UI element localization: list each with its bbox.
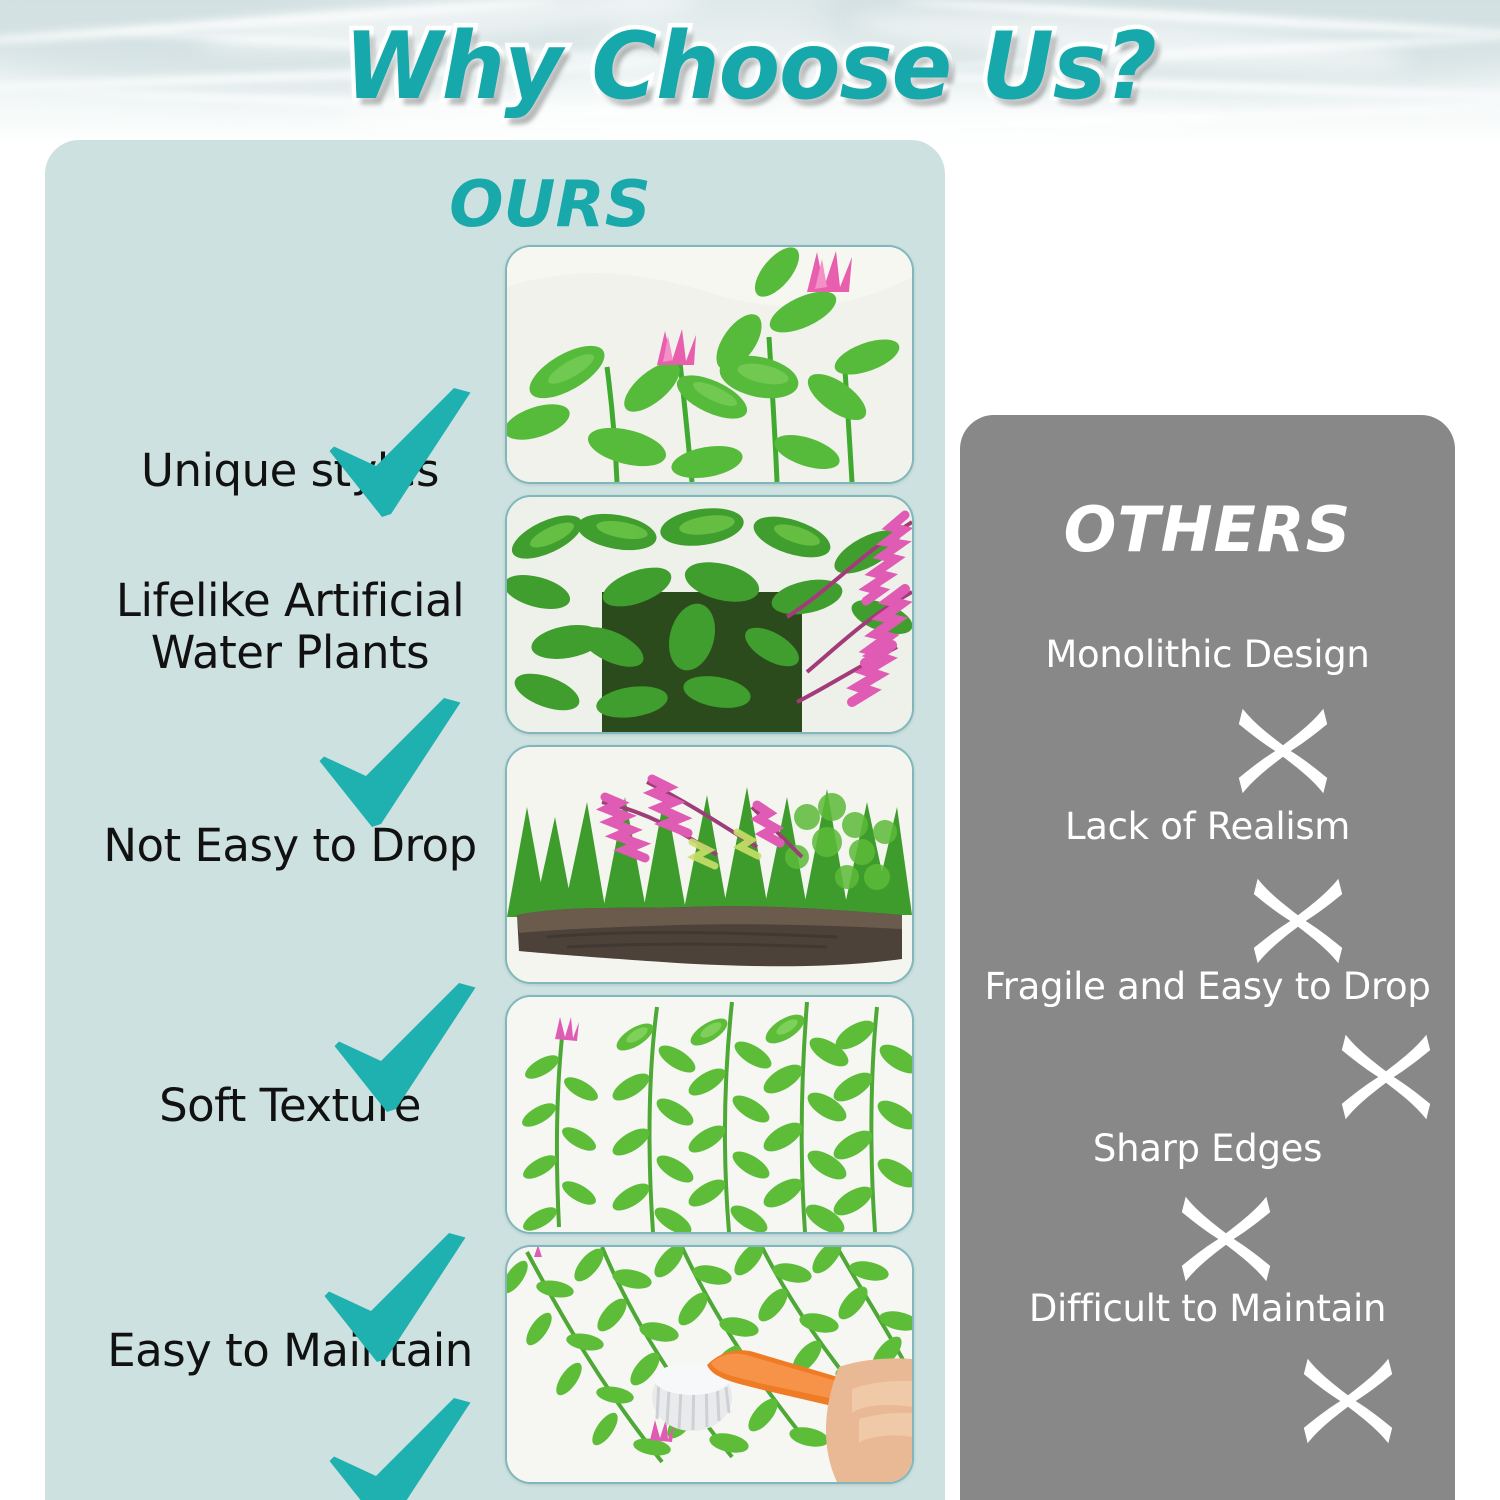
check-icon [320,1230,470,1380]
others-con-label-1: Monolithic Design [960,633,1455,676]
cross-icon [1250,873,1346,969]
check-icon [315,695,465,845]
cross-icon [1235,703,1331,799]
ours-panel: OURS Unique styles Lifelike Artificial W… [45,140,945,1500]
check-icon [330,980,480,1130]
cross-icon [1338,1029,1434,1125]
others-panel: OTHERS Monolithic Design Lack of Realism… [960,415,1455,1500]
photo-cleaning-with-brush [505,1245,914,1484]
photo-leafy-vertical-strands [505,995,914,1234]
photo-plants-on-driftwood-base [505,745,914,984]
others-con-label-2: Lack of Realism [960,805,1455,848]
check-icon [325,385,475,535]
photo-dense-green-leaves-pink-fern [505,495,914,734]
photo-plants-with-pink-flowers [505,245,914,484]
others-con-label-4: Sharp Edges [960,1127,1455,1170]
ours-feature-label-2: Lifelike Artificial Water Plants [65,575,515,679]
cross-icon [1178,1191,1274,1287]
check-icon [325,1395,475,1500]
others-heading: OTHERS [960,493,1455,566]
others-con-label-5: Difficult to Maintain [960,1287,1455,1330]
page-title: Why Choose Us? [30,12,1470,120]
others-con-label-3: Fragile and Easy to Drop [960,965,1455,1008]
cross-icon [1300,1353,1396,1449]
infographic-root: Why Choose Us? OURS Unique styles Lifeli… [0,0,1500,1500]
ours-heading: OURS [100,168,945,242]
